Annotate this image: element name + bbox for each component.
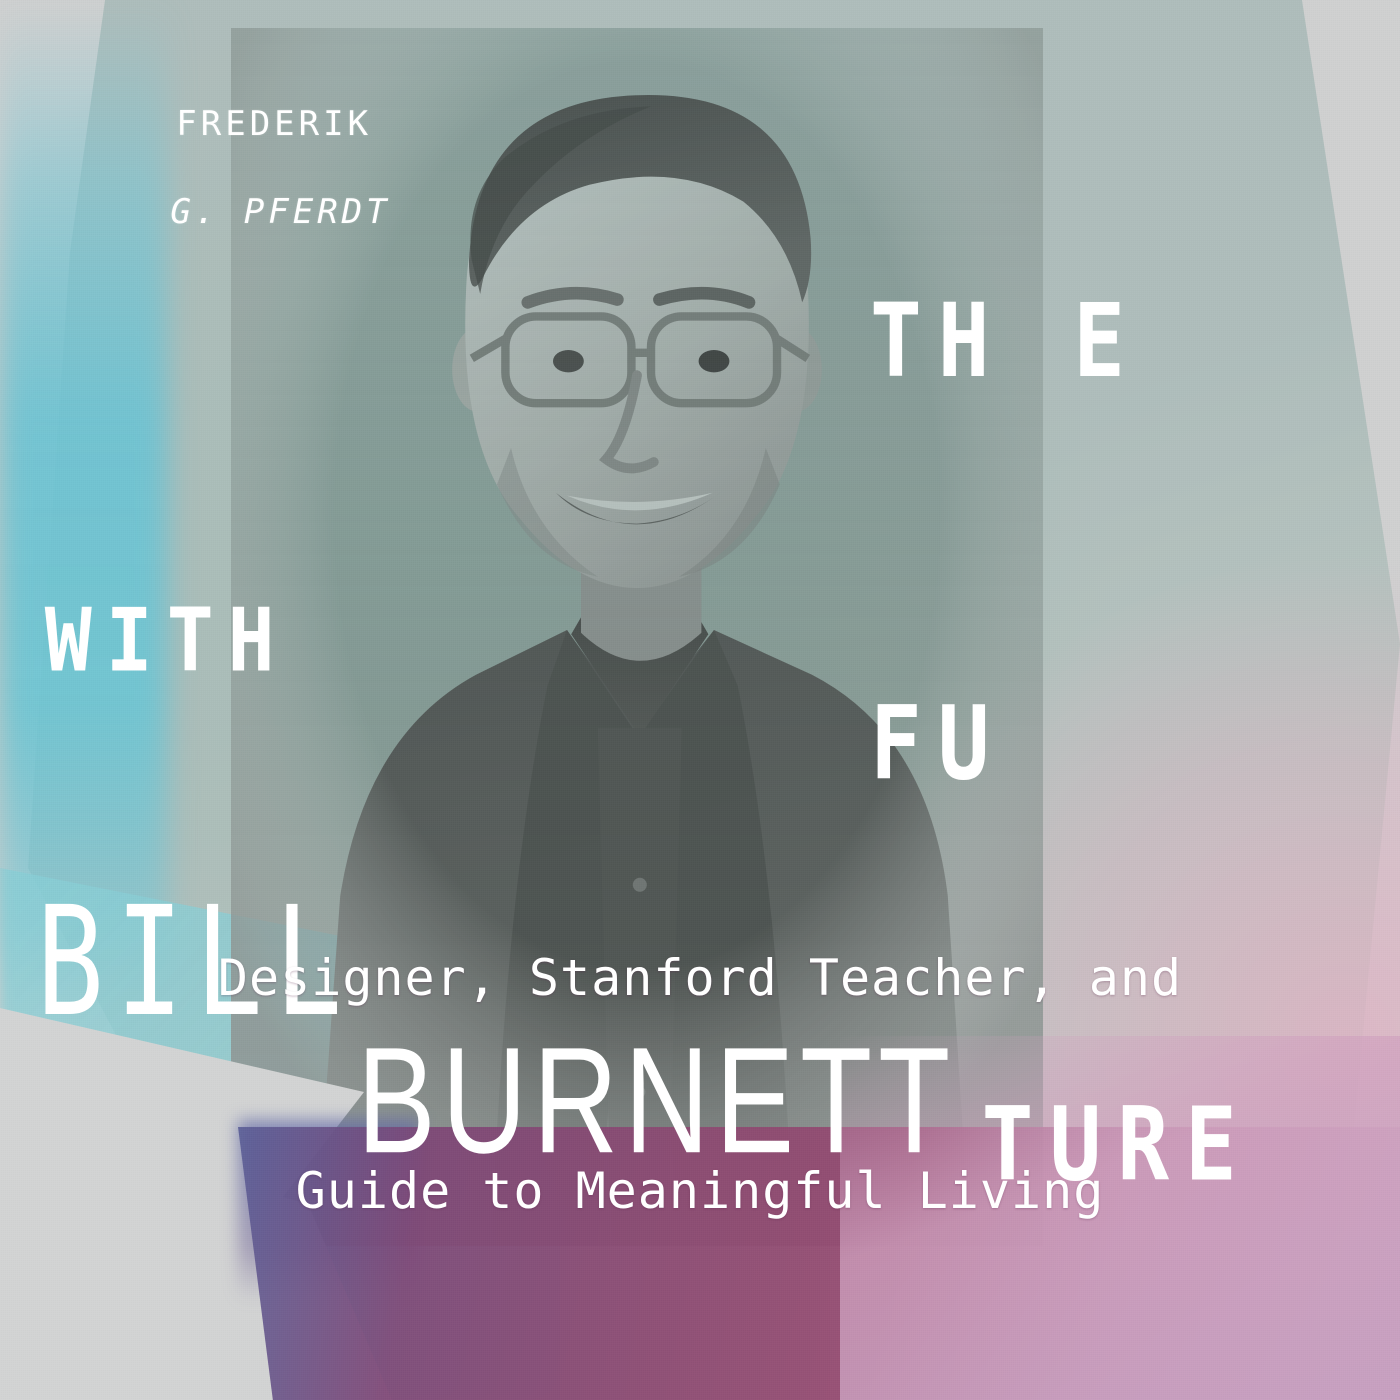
episode-subtitle-line-1: Designer, Stanford Teacher, and <box>17 943 1383 1014</box>
host-name: FREDERIK G. PFERDT <box>78 57 390 322</box>
podcast-cover-art: FREDERIK G. PFERDT TH E FU TURE IS NO W … <box>0 0 1400 1400</box>
host-name-line-1: FREDERIK <box>176 104 372 144</box>
with-label: WITH <box>45 591 289 692</box>
show-title-line-1: TH E <box>854 276 1386 410</box>
host-name-line-2: G. PFERDT <box>78 190 390 234</box>
episode-subtitle: Designer, Stanford Teacher, and Guide to… <box>0 801 1400 1369</box>
show-title-line-2: FU <box>854 678 1386 812</box>
episode-subtitle-line-2: Guide to Meaningful Living <box>17 1156 1383 1227</box>
